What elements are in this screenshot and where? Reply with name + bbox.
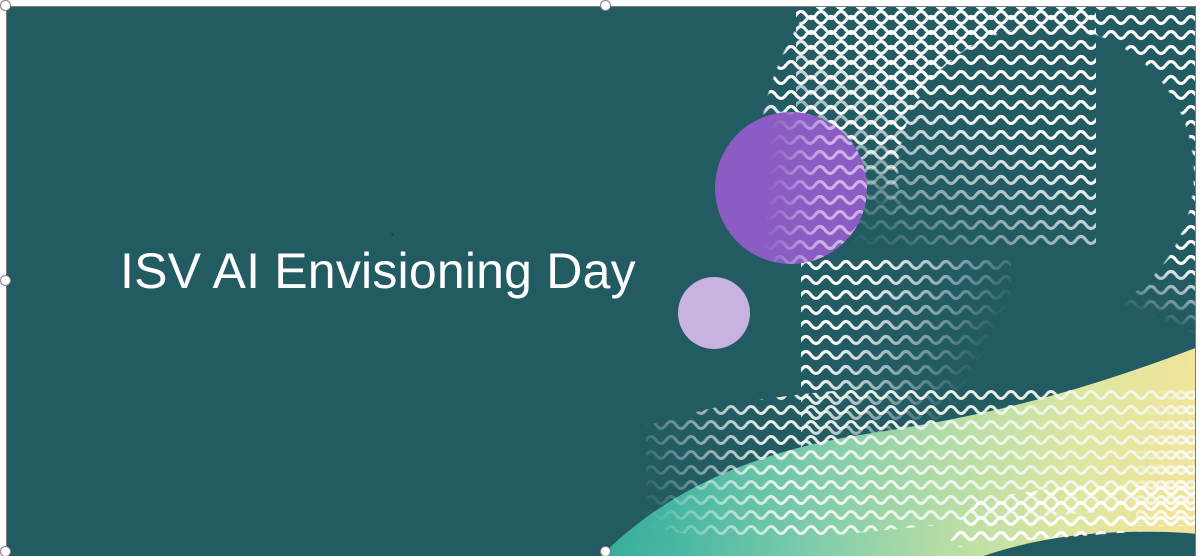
handle-top-left[interactable] <box>0 0 11 11</box>
handle-bottom-left[interactable] <box>0 546 11 556</box>
handle-bottom-center[interactable] <box>600 546 611 556</box>
handle-middle-left[interactable] <box>0 275 11 286</box>
text-artifact-dot <box>391 233 394 236</box>
wave-clump-pattern <box>1136 386 1196 526</box>
slide-surface[interactable]: ISV AI Envisioning Day <box>6 6 1196 556</box>
handle-top-center[interactable] <box>600 0 611 11</box>
large-purple-circle <box>715 112 867 264</box>
slide-canvas: ISV AI Envisioning Day <box>0 0 1204 556</box>
title-placeholder[interactable]: ISV AI Envisioning Day <box>120 241 680 301</box>
page-title[interactable]: ISV AI Envisioning Day <box>120 241 680 301</box>
